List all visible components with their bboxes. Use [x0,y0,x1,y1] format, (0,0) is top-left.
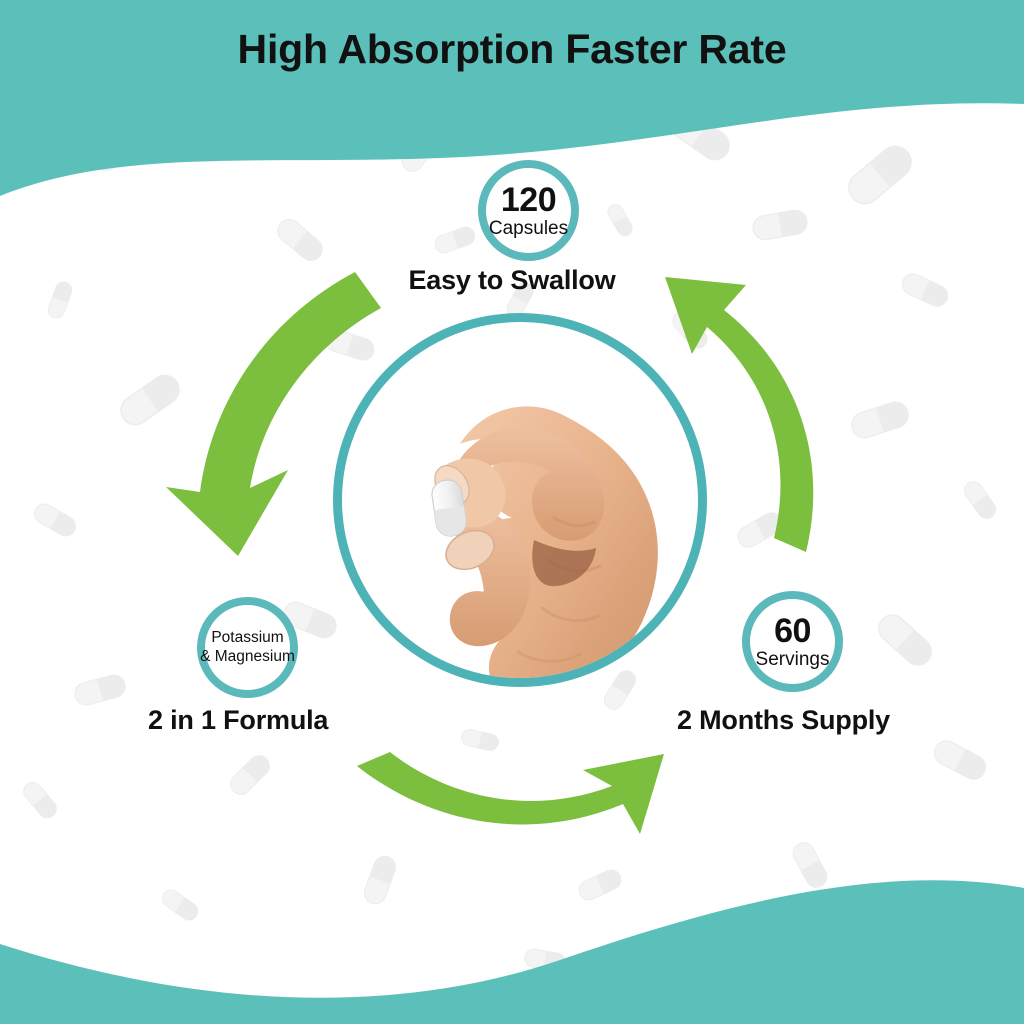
caption-easy-to-swallow: Easy to Swallow [0,265,1024,296]
page-title: High Absorption Faster Rate [0,26,1024,73]
badge-formula-line2: & Magnesium [200,648,295,667]
caption-2-in-1-formula: 2 in 1 Formula [148,705,328,736]
badge-formula-line1: Potassium [211,629,283,648]
arrow-bottom-icon [357,752,664,834]
badge-capsules[interactable]: 120 Capsules [478,160,579,261]
badge-servings-number: 60 [774,614,811,648]
badge-capsules-number: 120 [501,183,556,217]
center-product-ring [333,313,707,687]
infographic-canvas: High Absorption Faster Rate [0,0,1024,1024]
badge-servings-unit: Servings [756,650,830,669]
caption-2-months-supply: 2 Months Supply [677,705,890,736]
badge-formula[interactable]: Potassium & Magnesium [197,597,298,698]
hand-holding-capsule-icon [342,322,707,687]
badge-capsules-unit: Capsules [489,219,568,238]
badge-servings[interactable]: 60 Servings [742,591,843,692]
